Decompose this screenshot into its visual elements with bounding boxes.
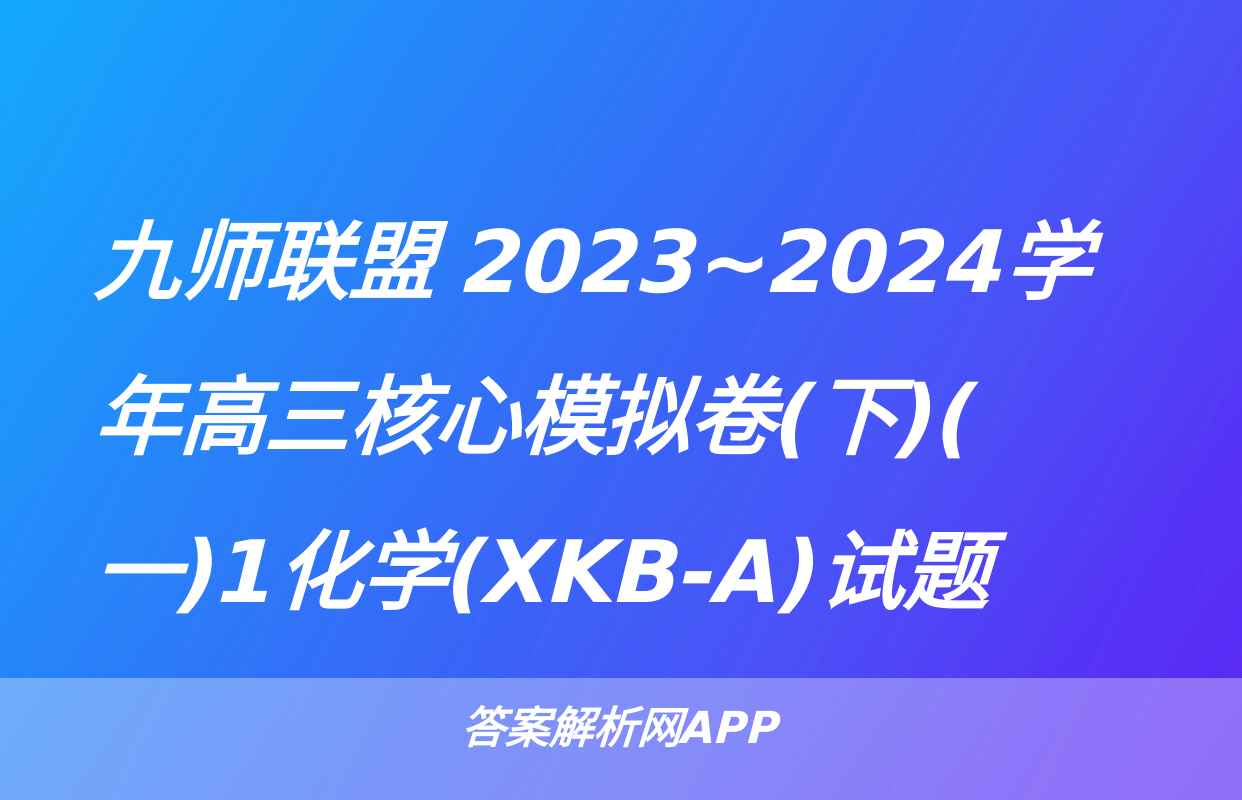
watermark-label: 答案解析网APP — [0, 703, 1242, 755]
title-line-2: 年高三核心模拟卷(下)( — [91, 341, 1174, 496]
title-line-1: 九师联盟 2023~2024学 — [91, 186, 1174, 341]
poster-canvas: 九师联盟 2023~2024学 年高三核心模拟卷(下)( 一)1化学(XKB-A… — [0, 0, 1242, 800]
page-title: 九师联盟 2023~2024学 年高三核心模拟卷(下)( 一)1化学(XKB-A… — [95, 186, 1170, 651]
title-line-3: 一)1化学(XKB-A)试题 — [91, 496, 1174, 651]
